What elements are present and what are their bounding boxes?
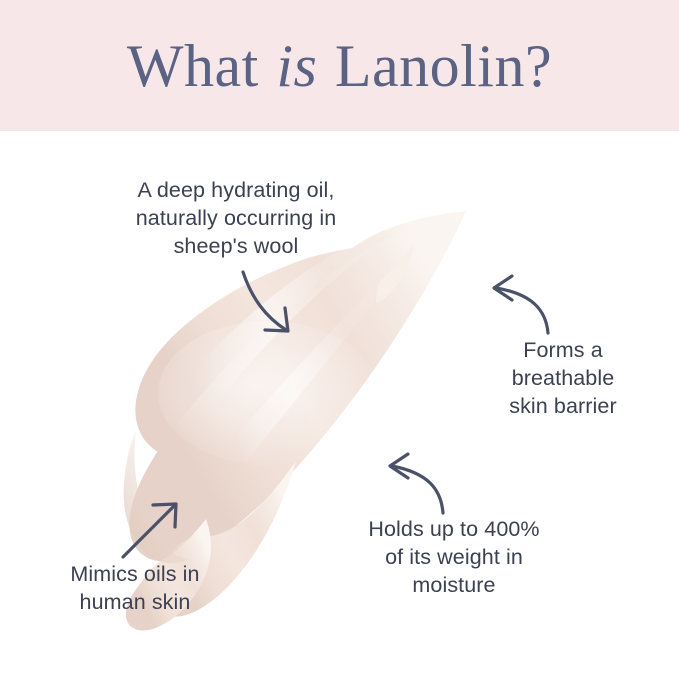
page-title-emphasis: is xyxy=(274,36,319,96)
page-title-suffix: Lanolin? xyxy=(319,36,552,96)
callout-mimics-skin-oils: Mimics oils in human skin xyxy=(32,560,238,616)
lanolin-infographic: What is Lanolin? xyxy=(0,0,679,679)
swatch-highlight xyxy=(158,321,378,465)
callout-holds-moisture: Holds up to 400% of its weight in moistu… xyxy=(332,515,576,599)
page-title-prefix: What xyxy=(127,36,274,96)
callout-breathable-barrier: Forms a breathable skin barrier xyxy=(477,336,649,420)
page-title: What is Lanolin? xyxy=(0,0,679,131)
callout-deep-hydrating-oil: A deep hydrating oil, naturally occurrin… xyxy=(92,176,380,260)
